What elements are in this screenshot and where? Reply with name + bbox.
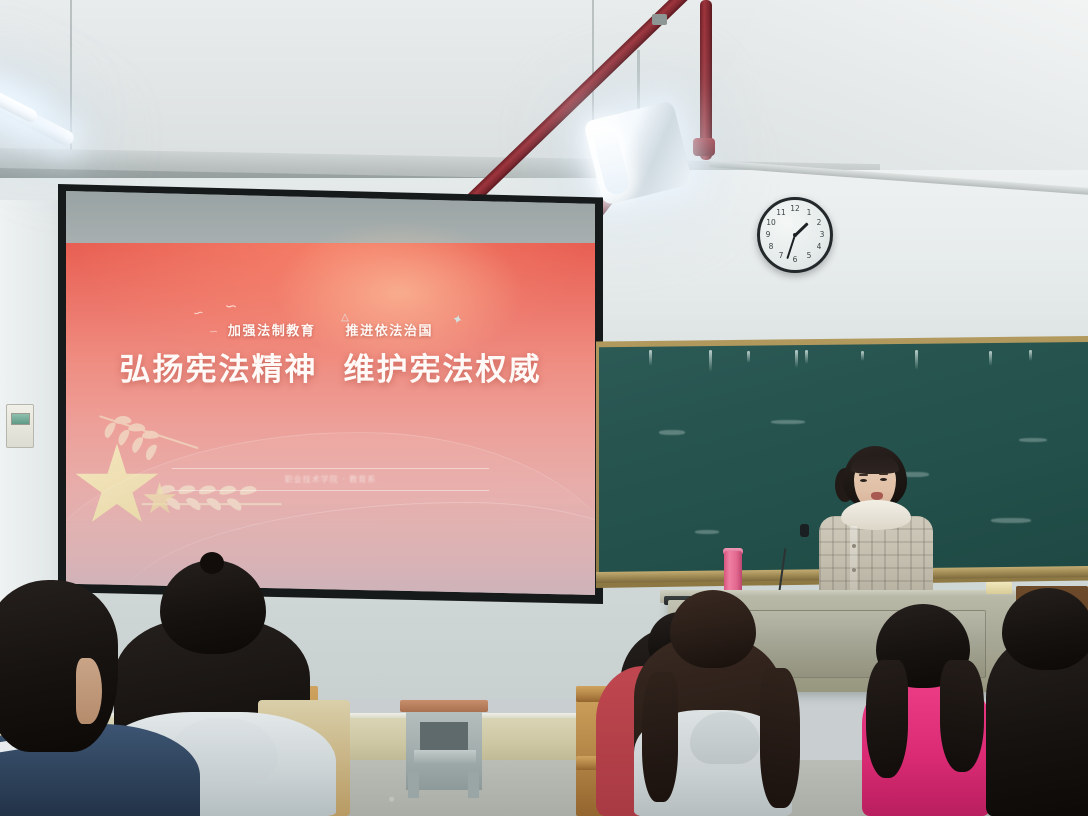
teacher-figure: [795, 446, 955, 606]
chalk-box: [986, 582, 1012, 594]
control-panel-display: [11, 413, 30, 425]
clock-numeral: 1: [803, 208, 815, 217]
wooden-stool: [400, 700, 488, 796]
presentation-slide: ∽ ∽ ∽ △ ✦: [66, 243, 595, 595]
light-hanger-wire: [637, 50, 640, 112]
clock-numeral: 8: [765, 242, 777, 251]
projection-screen: ∽ ∽ ∽ △ ✦: [66, 191, 595, 595]
teacher-mouth: [871, 492, 883, 500]
student-head: [0, 580, 118, 752]
clock-numeral: 12: [789, 204, 801, 213]
hair-strand: [642, 672, 678, 802]
hair-strand: [940, 660, 984, 772]
clock-numeral: 11: [775, 208, 787, 217]
hair-strand: [866, 660, 908, 778]
sprinkler-pipe-vertical: [700, 0, 712, 160]
clock-numeral: 9: [762, 230, 774, 239]
sprinkler-drop-cap: [652, 14, 667, 25]
clock-numeral: 6: [789, 255, 801, 264]
wall-clock: 12 1 2 3 4 5 6 7 8 9 10 11: [757, 197, 833, 273]
slide-subtitle-left: 加强法制教育: [228, 320, 316, 339]
slide-subtitle-row: 加强法制教育 推进依法治国: [66, 320, 595, 339]
clock-numeral: 10: [765, 218, 777, 227]
student-head: [160, 560, 266, 654]
clock-numeral: 7: [775, 251, 787, 260]
student-head: [670, 590, 756, 668]
slide-headline-right: 维护宪法权威: [344, 344, 542, 389]
hair-strand: [760, 668, 800, 808]
clock-numeral: 3: [816, 230, 828, 239]
right-wall-upper: [596, 170, 1088, 355]
slide-subtitle-right: 推进依法治国: [346, 320, 434, 339]
slide-text-block: 加强法制教育 推进依法治国 弘扬宪法精神 维护宪法权威: [66, 320, 595, 389]
pipe-joint: [693, 138, 715, 156]
student-ear-cheek: [76, 658, 102, 724]
clock-center-pin: [793, 233, 797, 237]
clock-numeral: 5: [803, 251, 815, 260]
slide-headline-left: 弘扬宪法精神: [120, 344, 318, 389]
student-head: [1002, 588, 1088, 670]
slide-headline-row: 弘扬宪法精神 维护宪法权威: [66, 344, 595, 389]
clock-numeral: 2: [813, 218, 825, 227]
bird-icon: ∽: [192, 306, 205, 320]
hair-tie-bun: [200, 552, 224, 574]
wall-control-panel[interactable]: [6, 404, 34, 448]
hoodie-hood: [690, 712, 760, 764]
clock-numeral: 4: [813, 242, 825, 251]
bird-icon: ∽: [225, 299, 238, 314]
classroom-scene: 12 1 2 3 4 5 6 7 8 9 10 11 ∽ ∽ ∽ △ ✦: [0, 0, 1088, 816]
